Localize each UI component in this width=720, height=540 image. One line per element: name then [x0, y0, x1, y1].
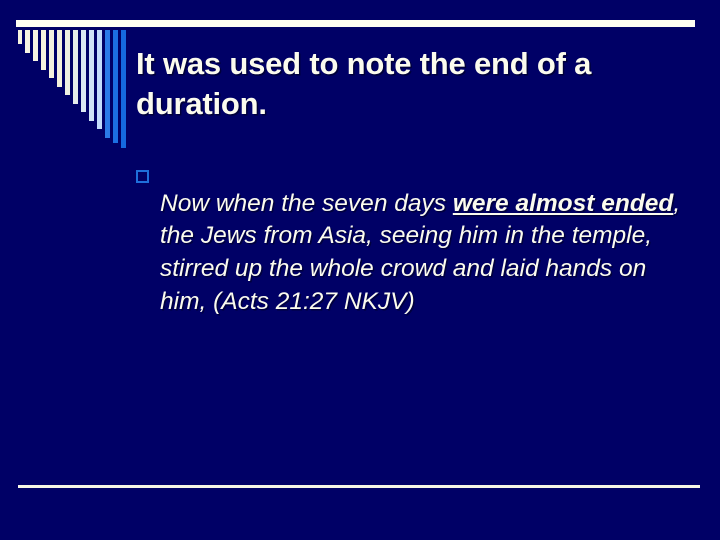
descending-bar-3 [33, 30, 38, 61]
descending-bar-1 [18, 30, 22, 44]
descending-bars-icon [18, 30, 122, 148]
bottom-horizontal-rule [18, 485, 700, 488]
quote-segment-1: Now when the seven days [160, 190, 453, 217]
body-content-block: Now when the seven days were almost ende… [136, 163, 688, 344]
descending-bar-12 [105, 30, 110, 138]
descending-bar-9 [81, 30, 86, 112]
descending-bar-6 [57, 30, 62, 87]
descending-bar-13 [113, 30, 118, 143]
descending-bar-4 [41, 30, 46, 70]
descending-bar-11 [97, 30, 102, 129]
bullet-list-item: Now when the seven days were almost ende… [136, 163, 688, 344]
hollow-square-bullet-icon [136, 170, 149, 183]
descending-bar-5 [49, 30, 54, 78]
slide-canvas: It was used to note the end of a duratio… [0, 0, 720, 540]
descending-bar-10 [89, 30, 94, 121]
descending-bar-7 [65, 30, 70, 95]
scripture-quote-text: Now when the seven days were almost ende… [160, 188, 688, 320]
top-horizontal-rule [16, 20, 695, 27]
descending-bar-8 [73, 30, 78, 104]
slide-title: It was used to note the end of a duratio… [136, 44, 696, 124]
descending-bar-14 [121, 30, 126, 148]
emphasized-phrase: were almost ended [453, 190, 674, 217]
descending-bar-2 [25, 30, 30, 53]
